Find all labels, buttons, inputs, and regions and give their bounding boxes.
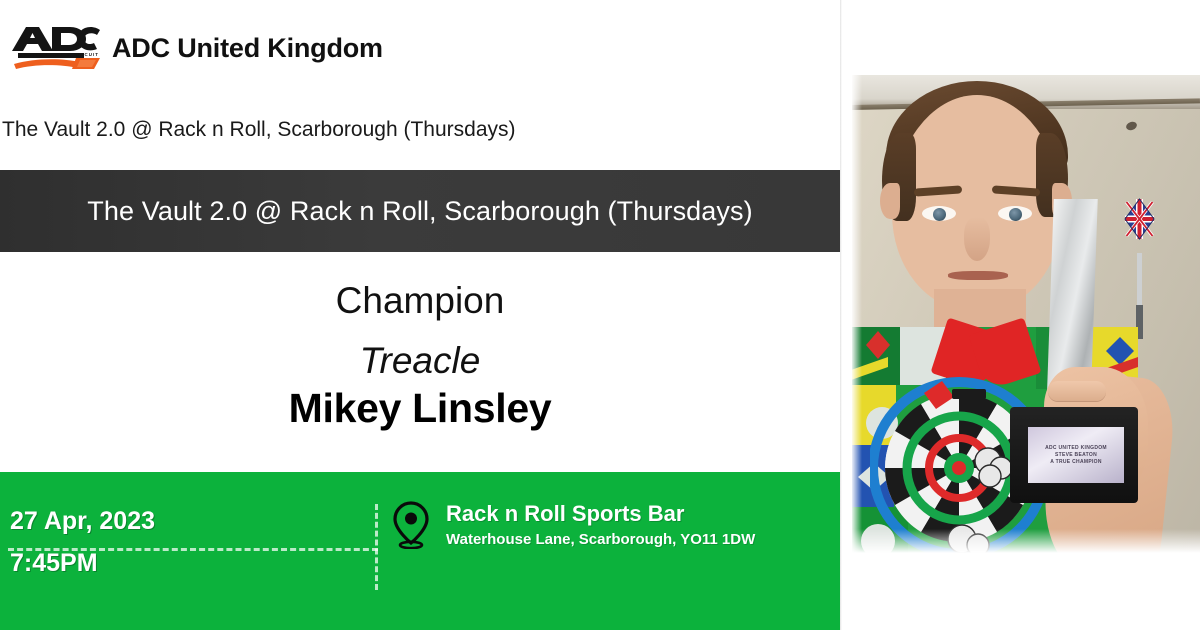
vertical-dashed-divider: [375, 504, 378, 590]
event-banner-title: The Vault 2.0 @ Rack n Roll, Scarborough…: [87, 196, 752, 227]
event-time: 7:45PM: [10, 550, 360, 578]
horizontal-dashed-divider: [8, 548, 378, 551]
event-date: 27 Apr, 2023: [10, 508, 360, 536]
photo-eye-left: [922, 206, 956, 221]
champion-nickname: Treacle: [360, 339, 481, 383]
venue-group: Rack n Roll Sports Bar Waterhouse Lane, …: [392, 500, 755, 549]
brand-title: ADC United Kingdom: [112, 33, 383, 64]
plaque-line-2: STEVE BEATON: [1055, 452, 1097, 458]
champion-photo-panel: ADC UNITED KINGDOM STEVE BEATON A TRUE C…: [840, 0, 1200, 630]
champion-name: Mikey Linsley: [289, 385, 552, 432]
event-subtitle: The Vault 2.0 @ Rack n Roll, Scarborough…: [2, 118, 838, 142]
adc-logo-svg: [8, 17, 104, 79]
brand-header: AMATEUR DARTS CIRCUIT ADC United Kingdom: [0, 0, 840, 96]
adc-logo-icon: AMATEUR DARTS CIRCUIT: [8, 13, 104, 83]
plaque-line-3: A TRUE CHAMPION: [1050, 459, 1102, 465]
map-pin-icon: [392, 501, 430, 549]
union-jack-dart-icon: [1110, 193, 1170, 343]
photo-eye-right: [998, 206, 1032, 221]
photo-nose: [964, 217, 990, 261]
datetime-group: 27 Apr, 2023 7:45PM: [10, 508, 360, 577]
photo-left-fade: [852, 75, 862, 555]
champion-photo: ADC UNITED KINGDOM STEVE BEATON A TRUE C…: [852, 75, 1200, 555]
champion-label: Champion: [336, 280, 505, 323]
photo-frame-edge: [840, 0, 842, 630]
poster-left-column: AMATEUR DARTS CIRCUIT ADC United Kingdom…: [0, 0, 840, 630]
plaque-line-1: ADC UNITED KINGDOM: [1045, 445, 1107, 451]
photo-ear-left: [880, 183, 900, 219]
trophy-plaque: ADC UNITED KINGDOM STEVE BEATON A TRUE C…: [1028, 427, 1124, 483]
champion-block: Champion Treacle Mikey Linsley: [0, 252, 840, 472]
event-result-poster: AMATEUR DARTS CIRCUIT ADC United Kingdom…: [0, 0, 1200, 630]
photo-bottom-fade: [852, 529, 1200, 555]
venue-address: Waterhouse Lane, Scarborough, YO11 1DW: [446, 530, 755, 550]
venue-name: Rack n Roll Sports Bar: [446, 500, 755, 528]
venue-text: Rack n Roll Sports Bar Waterhouse Lane, …: [446, 500, 755, 549]
event-details-footer: 27 Apr, 2023 7:45PM: [0, 472, 840, 630]
photo-mouth: [948, 271, 1008, 280]
event-title-banner: The Vault 2.0 @ Rack n Roll, Scarborough…: [0, 170, 840, 252]
adc-logo-tagline: AMATEUR DARTS CIRCUIT: [19, 52, 99, 57]
